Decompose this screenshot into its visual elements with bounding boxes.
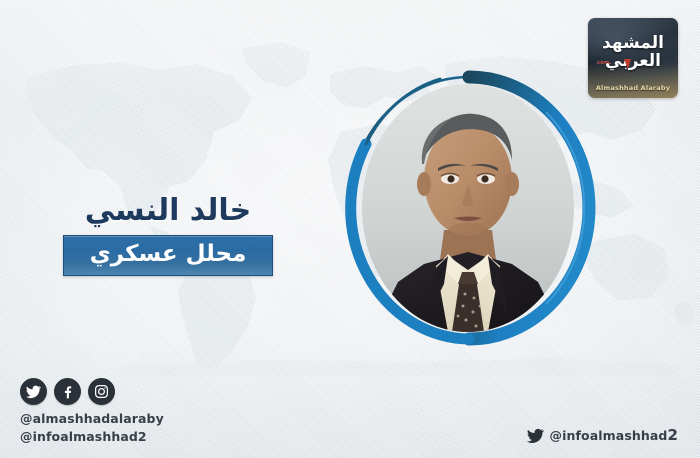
- guest-name: خالد النسي: [40, 193, 296, 228]
- facebook-icon[interactable]: [54, 378, 81, 405]
- watermark-handle-prefix: @infoalmashhad: [550, 428, 668, 443]
- broadcast-guest-card: خالد النسي محلل عسكري المشهد العربي com.…: [0, 0, 700, 458]
- guest-name-block: خالد النسي محلل عسكري: [40, 193, 296, 276]
- logo-com-label: com.: [597, 60, 612, 66]
- twitter-icon: [527, 427, 544, 444]
- social-block: @almashhadalaraby @infoalmashhad2: [20, 378, 164, 446]
- watermark-handle[interactable]: @infoalmashhad2: [527, 426, 678, 444]
- logo-arabic-line-1: المشهد: [588, 34, 678, 52]
- channel-logo[interactable]: المشهد العربي com. Almashhad Alaraby: [588, 18, 678, 98]
- watermark-handle-suffix: 2: [667, 426, 678, 444]
- guest-portrait: [346, 74, 592, 342]
- twitter-icon[interactable]: [20, 378, 47, 405]
- guest-role-badge: محلل عسكري: [63, 235, 274, 275]
- portrait-ring: [340, 68, 598, 348]
- social-icon-row: [20, 378, 164, 405]
- watermark-handle-text: @infoalmashhad2: [550, 426, 678, 444]
- social-handle-2[interactable]: @infoalmashhad2: [20, 428, 164, 446]
- logo-latin-text: Almashhad Alaraby: [588, 84, 678, 92]
- social-handle-1[interactable]: @almashhadalaraby: [20, 410, 164, 428]
- instagram-icon[interactable]: [88, 378, 115, 405]
